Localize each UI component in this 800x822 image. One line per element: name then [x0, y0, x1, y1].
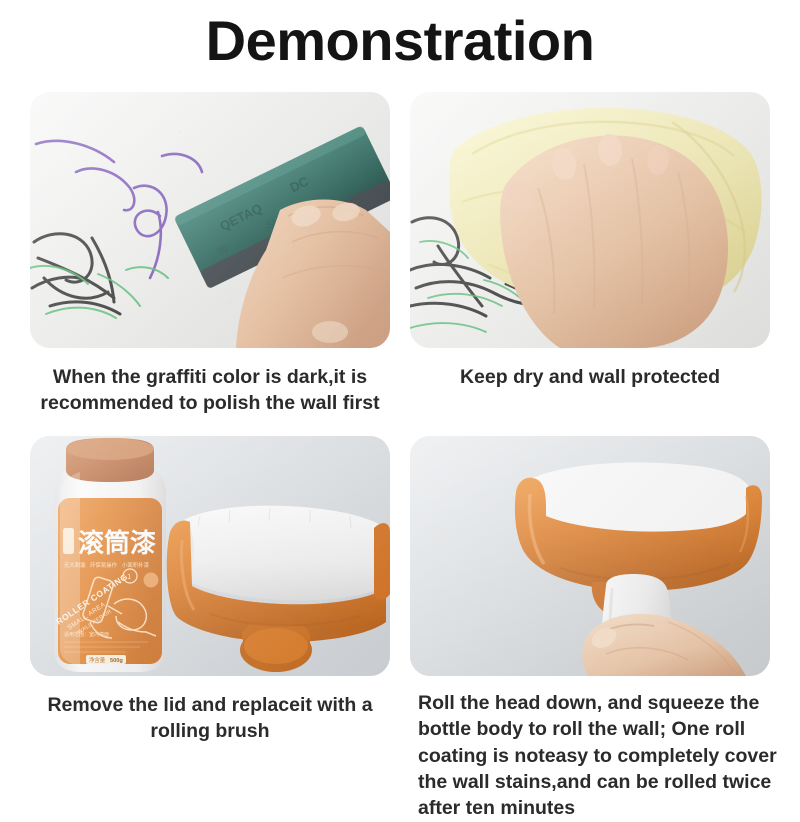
- step-4-caption: Roll the head down, and squeeze the bott…: [418, 690, 784, 822]
- step-2-panel: Keep dry and wall protected: [410, 92, 770, 348]
- photo-sanding-block-on-graffiti-wall: QETAQ DC 80SHS: [30, 92, 390, 348]
- steps-grid: QETAQ DC 80SHS: [0, 92, 800, 796]
- svg-text:500g: 500g: [110, 658, 123, 664]
- svg-text:滚筒漆: 滚筒漆: [78, 528, 156, 559]
- photo-paint-bottle-and-roller-head: 滚筒漆 无大刺激 环保易操作 小面积补漆 ROLLER COATING SMAL…: [30, 436, 390, 676]
- svg-text:1: 1: [127, 573, 131, 581]
- photo-wiping-wall-with-yellow-cloth: [410, 92, 770, 348]
- step-1-panel: QETAQ DC 80SHS: [30, 92, 390, 348]
- step-4-panel: Roll the head down, and squeeze the bott…: [410, 436, 770, 676]
- svg-text:环保易操作: 环保易操作: [90, 561, 118, 569]
- photo-rolling-paint-onto-wall: [410, 436, 770, 676]
- svg-text:小面积补漆: 小面积补漆: [122, 561, 150, 569]
- step-2-caption: Keep dry and wall protected: [410, 364, 770, 390]
- page-title: Demonstration: [0, 12, 800, 71]
- step-3-caption: Remove the lid and replaceit with a roll…: [26, 692, 394, 745]
- svg-text:净含量: 净含量: [89, 656, 106, 664]
- step-1-caption: When the graffiti color is dark,it is re…: [24, 364, 396, 417]
- demonstration-page: Demonstration: [0, 0, 800, 800]
- step-3-panel: 滚筒漆 无大刺激 环保易操作 小面积补漆 ROLLER COATING SMAL…: [30, 436, 390, 676]
